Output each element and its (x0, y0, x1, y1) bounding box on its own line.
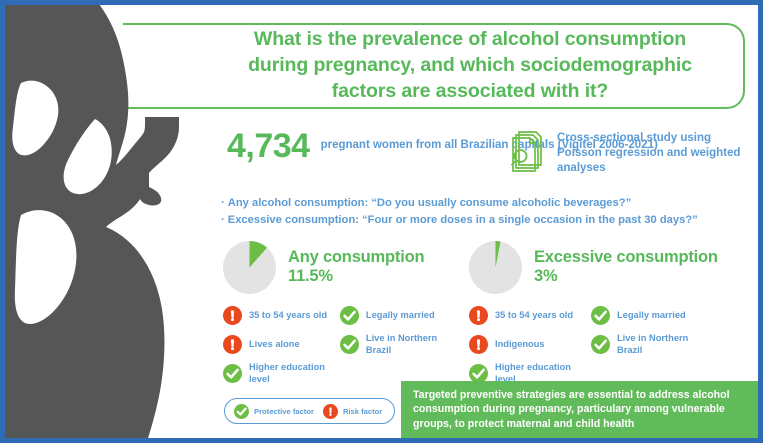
study-method-stat: Cross-sectional study using Poisson regr… (505, 129, 758, 178)
bullet-dot-icon: · (221, 197, 225, 209)
factor-column-right: Legally married Live in Northern Brazil (340, 302, 453, 389)
protective-factor-icon (591, 306, 610, 325)
panel-title: Any consumption (288, 248, 424, 266)
panel-header: Excessive consumption 3% (469, 239, 719, 295)
factor-label: 35 to 54 years old (495, 310, 573, 321)
factor-label: Legally married (366, 310, 435, 321)
factor-legend: Protective factor Risk factor (224, 398, 395, 424)
factor-item: Legally married (591, 302, 709, 329)
definition-text: Excessive consumption: “Four or more dos… (228, 214, 698, 226)
conclusion-banner: Targeted preventive strategies are essen… (401, 381, 758, 438)
risk-factor-icon (469, 306, 488, 325)
factor-item: Indigenous (469, 331, 591, 358)
definition-item: ·Excessive consumption: “Four or more do… (221, 212, 698, 229)
factor-item: 35 to 54 years old (469, 302, 591, 329)
risk-factor-icon (223, 335, 242, 354)
panel-title-block: Any consumption 11.5% (288, 248, 424, 286)
pie-chart-excessive-consumption (469, 241, 522, 294)
factor-item: Live in Northern Brazil (591, 331, 709, 358)
risk-factor-icon (323, 404, 338, 419)
factor-column-right: Legally married Live in Northern Brazil (591, 302, 709, 389)
conclusion-text: Targeted preventive strategies are essen… (401, 388, 758, 432)
factor-column-left: 35 to 54 years old Indigenous Higher edu… (469, 302, 591, 389)
title-banner: What is the prevalence of alcohol consum… (123, 23, 745, 109)
protective-factor-icon (340, 335, 359, 354)
panel-excessive-consumption: Excessive consumption 3% 35 to 54 years … (469, 239, 719, 389)
legend-label-risk: Risk factor (343, 407, 382, 416)
definitions-list: ·Any alcohol consumption: “Do you usuall… (221, 195, 698, 230)
factor-item: Lives alone (223, 331, 340, 358)
factor-label: Live in Northern Brazil (366, 333, 453, 356)
infographic-root: What is the prevalence of alcohol consum… (0, 0, 763, 443)
documents-magnifier-icon (505, 129, 547, 178)
protective-factor-icon (591, 335, 610, 354)
factor-label: Indigenous (495, 339, 545, 350)
protective-factor-icon (340, 306, 359, 325)
legend-item-protective: Protective factor (234, 404, 314, 419)
panel-any-consumption: Any consumption 11.5% 35 to 54 years old… (223, 239, 453, 389)
factor-item: Live in Northern Brazil (340, 331, 453, 358)
factor-label: Legally married (617, 310, 686, 321)
protective-factor-icon (234, 404, 249, 419)
infographic-canvas: What is the prevalence of alcohol consum… (5, 5, 758, 438)
definition-text: Any alcohol consumption: “Do you usually… (228, 197, 631, 209)
legend-label-protective: Protective factor (254, 407, 314, 416)
factor-grid: 35 to 54 years old Lives alone Higher ed… (223, 302, 453, 389)
factor-item: Higher education level (223, 360, 340, 387)
panel-percent: 3% (534, 267, 718, 286)
bullet-dot-icon: · (221, 214, 225, 226)
sample-size-number: 4,734 (227, 129, 310, 163)
panel-percent: 11.5% (288, 267, 424, 286)
factor-item: Legally married (340, 302, 453, 329)
factor-item: 35 to 54 years old (223, 302, 340, 329)
page-title: What is the prevalence of alcohol consum… (123, 27, 743, 105)
factor-column-left: 35 to 54 years old Lives alone Higher ed… (223, 302, 340, 389)
legend-item-risk: Risk factor (323, 404, 382, 419)
factor-grid: 35 to 54 years old Indigenous Higher edu… (469, 302, 719, 389)
panel-title-block: Excessive consumption 3% (534, 248, 718, 286)
risk-factor-icon (223, 306, 242, 325)
factor-label: Live in Northern Brazil (617, 333, 709, 356)
factor-label: Higher education level (249, 362, 340, 385)
panel-header: Any consumption 11.5% (223, 239, 453, 295)
panel-title: Excessive consumption (534, 248, 718, 266)
factor-label: Lives alone (249, 339, 300, 350)
risk-factor-icon (469, 335, 488, 354)
study-method-description: Cross-sectional study using Poisson regr… (557, 131, 758, 177)
factor-label: 35 to 54 years old (249, 310, 327, 321)
protective-factor-icon (223, 364, 242, 383)
definition-item: ·Any alcohol consumption: “Do you usuall… (221, 195, 698, 212)
pie-chart-any-consumption (223, 241, 276, 294)
